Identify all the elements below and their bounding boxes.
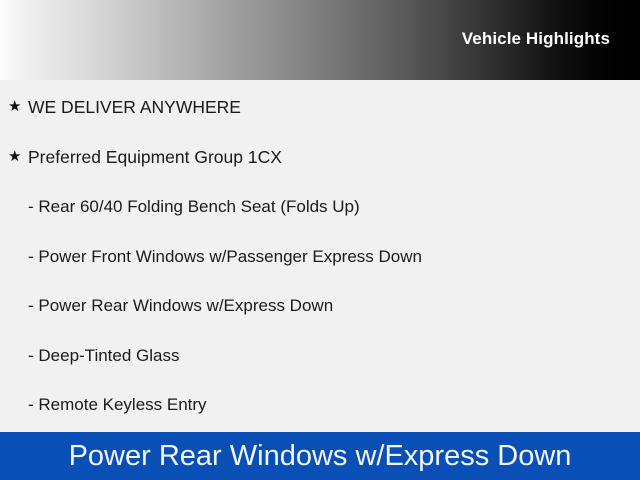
- footer-caption-bar: Power Rear Windows w/Express Down: [0, 432, 640, 480]
- list-item: ★ WE DELIVER ANYWHERE: [0, 94, 640, 120]
- list-item: - Deep-Tinted Glass: [0, 343, 640, 369]
- list-item: - Rear 60/40 Folding Bench Seat (Folds U…: [0, 194, 640, 220]
- list-item: - Power Rear Windows w/Express Down: [0, 293, 640, 319]
- vehicle-highlights-slide: Vehicle Highlights ★ WE DELIVER ANYWHERE…: [0, 0, 640, 480]
- list-item-label: Preferred Equipment Group 1CX: [28, 146, 282, 168]
- list-item-label: - Power Front Windows w/Passenger Expres…: [28, 246, 422, 268]
- list-item-label: - Rear 60/40 Folding Bench Seat (Folds U…: [28, 196, 360, 218]
- footer-caption-text: Power Rear Windows w/Express Down: [69, 439, 572, 473]
- list-item: - Remote Keyless Entry: [0, 392, 640, 418]
- list-item-label: WE DELIVER ANYWHERE: [28, 96, 241, 118]
- list-item-label: - Deep-Tinted Glass: [28, 345, 179, 367]
- star-icon: ★: [8, 97, 28, 117]
- page-title: Vehicle Highlights: [462, 29, 610, 49]
- list-item: - Power Front Windows w/Passenger Expres…: [0, 244, 640, 270]
- list-item-label: - Power Rear Windows w/Express Down: [28, 295, 333, 317]
- highlights-list: ★ WE DELIVER ANYWHERE ★ Preferred Equipm…: [0, 80, 640, 432]
- header-gradient-band: Vehicle Highlights: [0, 0, 640, 80]
- list-item-label: - Remote Keyless Entry: [28, 394, 207, 416]
- star-icon: ★: [8, 147, 28, 167]
- list-item: ★ Preferred Equipment Group 1CX: [0, 144, 640, 170]
